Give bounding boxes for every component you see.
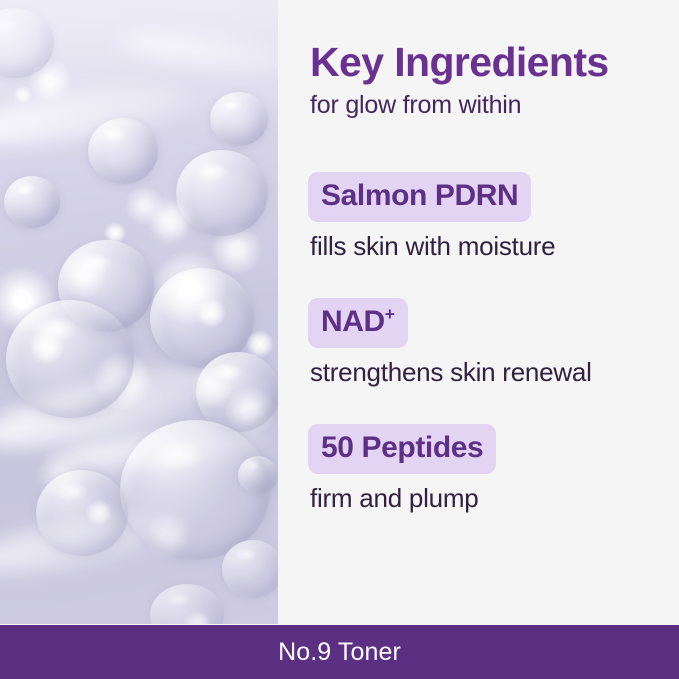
ingredient-texture-photo	[0, 0, 278, 624]
ingredient-description: strengthens skin renewal	[310, 358, 678, 388]
ingredient-name-superscript: +	[385, 304, 395, 324]
ingredient-list: Salmon PDRN fills skin with moisture NAD…	[308, 172, 678, 514]
ingredient-name-badge: 50 Peptides	[308, 424, 496, 474]
ingredient-description: firm and plump	[310, 484, 678, 514]
product-name-label: No.9 Toner	[278, 640, 401, 665]
content-panel: Key Ingredients for glow from within Sal…	[278, 0, 679, 624]
ingredient-name-badge: NAD+	[308, 298, 408, 348]
ingredient-item-salmon-pdrn: Salmon PDRN fills skin with moisture	[308, 172, 678, 262]
heading-block: Key Ingredients for glow from within	[310, 41, 670, 119]
ingredient-item-50-peptides: 50 Peptides firm and plump	[308, 424, 678, 514]
ingredient-name-text: Salmon PDRN	[321, 179, 518, 212]
ingredient-description: fills skin with moisture	[310, 232, 678, 262]
page-subtitle: for glow from within	[310, 91, 670, 119]
photo-haze-overlay	[0, 0, 278, 624]
product-infographic-card: Key Ingredients for glow from within Sal…	[0, 0, 679, 679]
ingredient-name-badge: Salmon PDRN	[308, 172, 531, 222]
ingredient-name-text: NAD	[321, 305, 385, 338]
product-name-bar: No.9 Toner	[0, 625, 679, 679]
ingredient-item-nad-plus: NAD+ strengthens skin renewal	[308, 298, 678, 388]
page-title: Key Ingredients	[310, 41, 670, 84]
ingredient-name-text: 50 Peptides	[321, 431, 483, 464]
